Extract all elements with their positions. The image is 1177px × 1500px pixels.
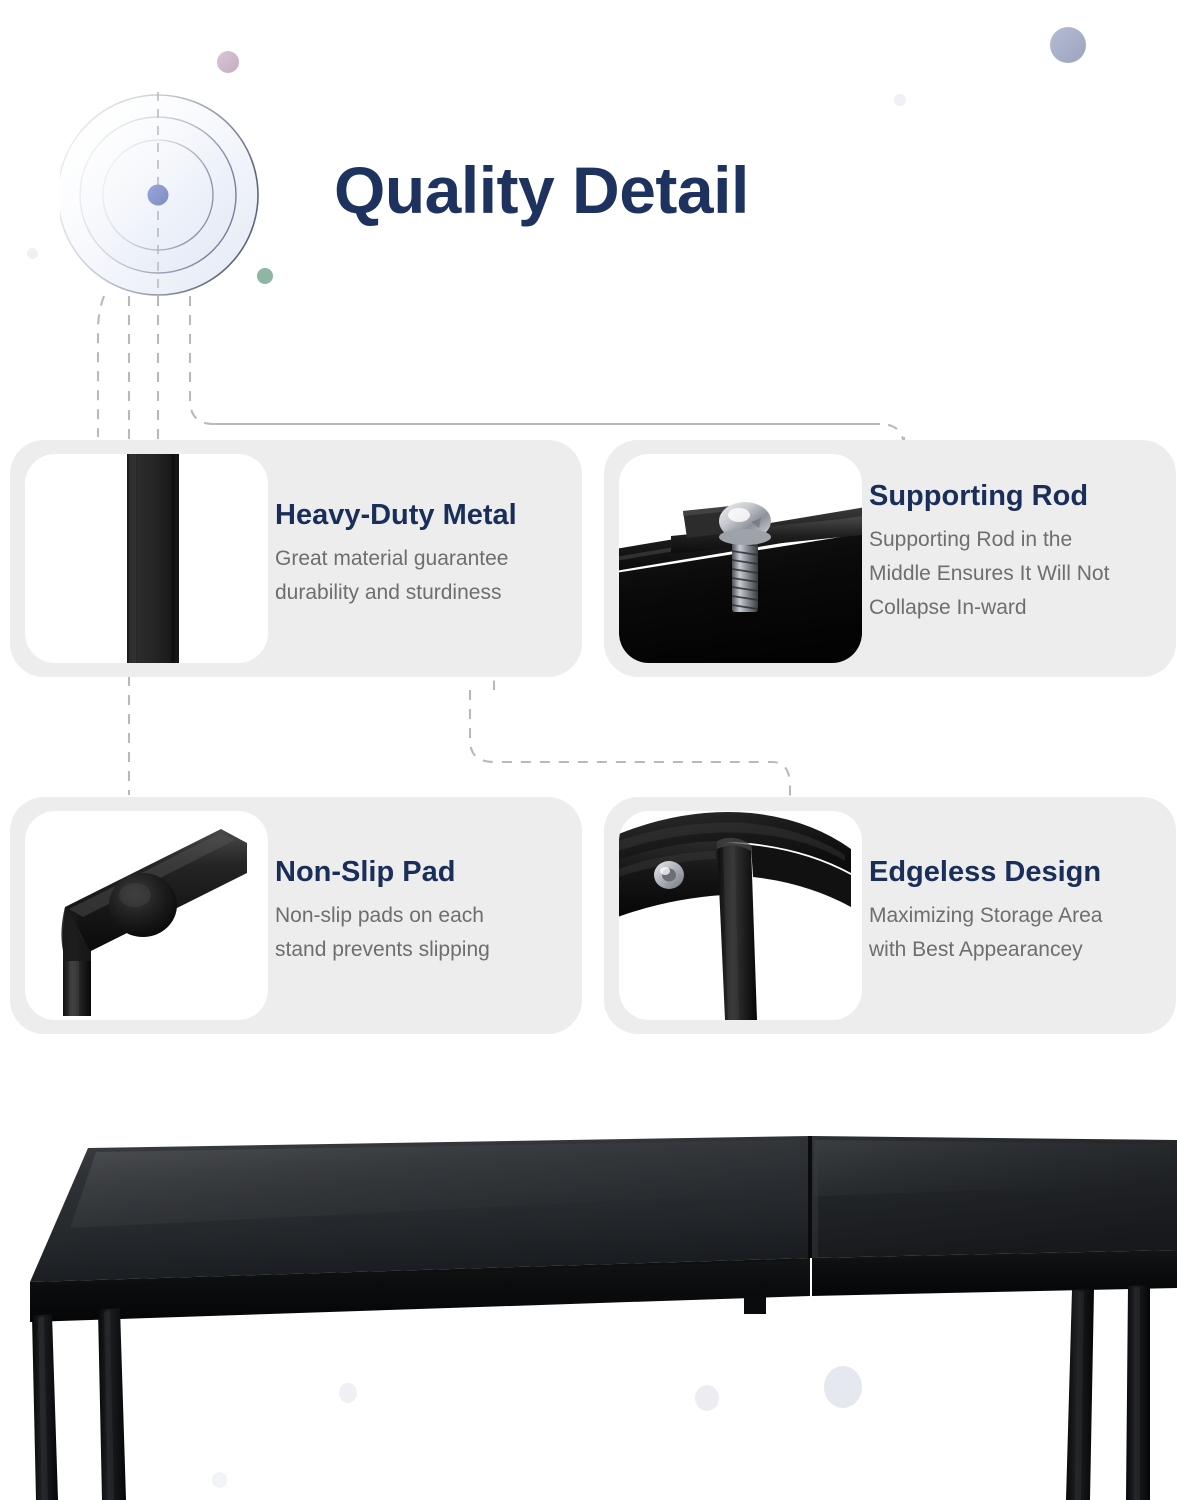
black-extendable-table-photo <box>0 1100 1177 1500</box>
feature-text-edgeless-design: Edgeless Design Maximizing Storage Area … <box>869 857 1102 967</box>
feature-card-supporting-rod: Supporting Rod Supporting Rod in the Mid… <box>604 440 1176 677</box>
feature-description: Great material guarantee durability and … <box>275 542 517 610</box>
feature-description: Non-slip pads on each stand prevents sli… <box>275 899 490 967</box>
feature-desc-line: Supporting Rod in the <box>869 523 1109 557</box>
feature-description: Supporting Rod in the Middle Ensures It … <box>869 523 1109 625</box>
feature-title: Non-Slip Pad <box>275 857 490 889</box>
feature-title: Edgeless Design <box>869 857 1102 889</box>
feature-desc-line: Middle Ensures It Will Not <box>869 557 1109 591</box>
feature-title: Heavy-Duty Metal <box>275 500 517 532</box>
feature-desc-line: with Best Appearancey <box>869 933 1102 967</box>
feature-desc-line: durability and sturdiness <box>275 576 517 610</box>
dot-blue-gray <box>1050 27 1086 63</box>
feature-title: Supporting Rod <box>869 481 1109 513</box>
dot-white-tiny <box>894 94 906 106</box>
non-slip-pad-leg-photo <box>25 811 268 1020</box>
dot-green <box>257 268 273 284</box>
page-title: Quality Detail <box>334 157 749 223</box>
feature-card-heavy-duty-metal: Heavy-Duty Metal Great material guarante… <box>10 440 582 677</box>
feature-description: Maximizing Storage Area with Best Appear… <box>869 899 1102 967</box>
feature-desc-line: Collapse In-ward <box>869 591 1109 625</box>
feature-card-edgeless-design: Edgeless Design Maximizing Storage Area … <box>604 797 1176 1034</box>
radar-target-graphic <box>60 80 320 325</box>
edgeless-corner-photo <box>619 811 862 1020</box>
metal-bar-photo <box>25 454 268 663</box>
dot-pink <box>217 51 239 73</box>
feature-card-non-slip-pad: Non-Slip Pad Non-slip pads on each stand… <box>10 797 582 1034</box>
feature-text-heavy-duty-metal: Heavy-Duty Metal Great material guarante… <box>275 500 517 610</box>
infographic-page: Quality Detail <box>0 0 1177 1500</box>
supporting-rod-screw-photo <box>619 454 862 663</box>
feature-desc-line: Non-slip pads on each <box>275 899 490 933</box>
feature-text-supporting-rod: Supporting Rod Supporting Rod in the Mid… <box>869 481 1109 625</box>
dot-white-sm <box>27 248 38 259</box>
feature-text-non-slip-pad: Non-Slip Pad Non-slip pads on each stand… <box>275 857 490 967</box>
feature-desc-line: Great material guarantee <box>275 542 517 576</box>
feature-desc-line: Maximizing Storage Area <box>869 899 1102 933</box>
feature-desc-line: stand prevents slipping <box>275 933 490 967</box>
